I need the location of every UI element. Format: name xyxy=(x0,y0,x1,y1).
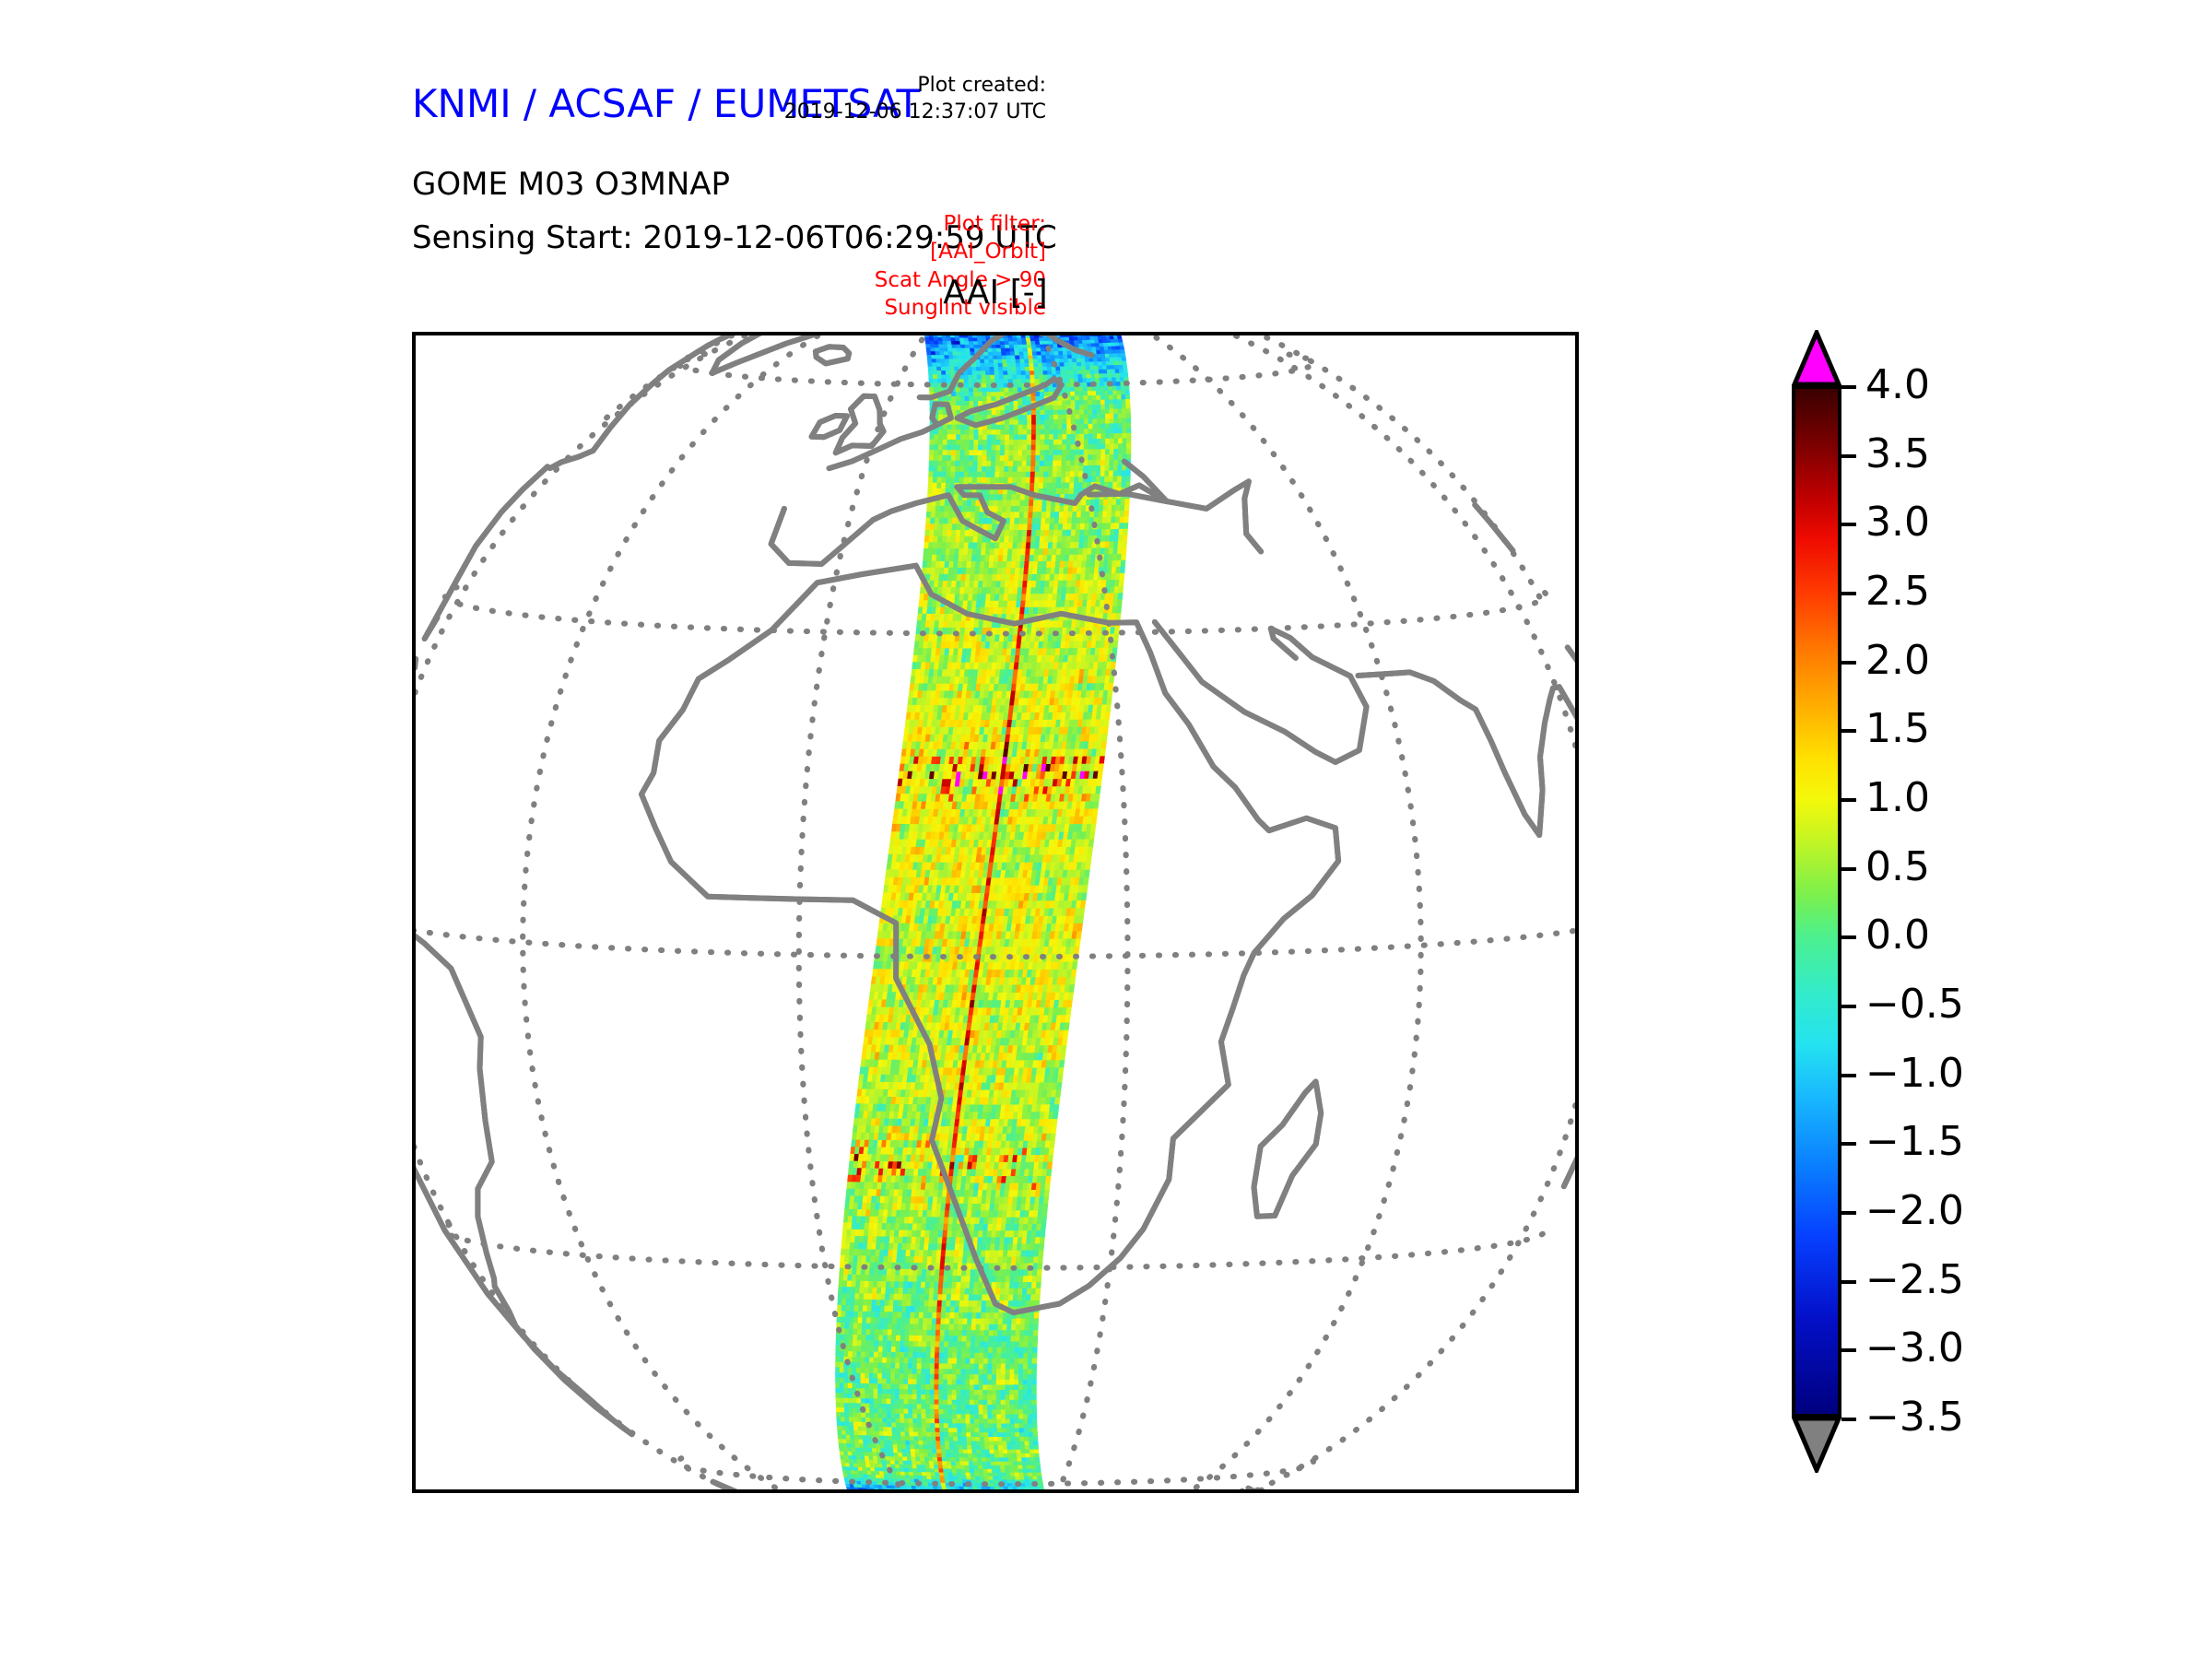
swath-cell xyxy=(1081,362,1086,366)
swath-cell xyxy=(1028,425,1032,429)
swath-cell xyxy=(949,555,954,561)
swath-cell xyxy=(999,472,1004,477)
swath-cell xyxy=(935,512,940,519)
swath-cell xyxy=(1107,698,1112,705)
swath-cell xyxy=(1037,512,1041,519)
swath-cell xyxy=(985,363,990,367)
swath-cell xyxy=(1047,488,1052,494)
swath-cell xyxy=(1069,494,1074,500)
swath-cell xyxy=(1113,548,1118,555)
swath-cell xyxy=(974,435,979,441)
swath-cell xyxy=(1025,363,1030,367)
swath-cell xyxy=(928,367,933,371)
swath-cell xyxy=(1058,524,1063,531)
swath-cell xyxy=(1045,524,1050,531)
swath-cell xyxy=(947,461,951,466)
swath-cell xyxy=(1013,466,1018,472)
swath-cell xyxy=(1038,359,1042,363)
swath-cell xyxy=(1013,477,1018,483)
swath-cell xyxy=(1053,406,1058,410)
swath-cell xyxy=(1105,471,1110,477)
swath-cell xyxy=(977,543,982,549)
swath-cell xyxy=(990,375,994,380)
swath-cell xyxy=(1081,512,1086,518)
swath-cell xyxy=(1005,388,1009,393)
swath-cell xyxy=(1030,477,1035,483)
swath-cell xyxy=(929,472,934,477)
swath-cell xyxy=(1102,524,1107,530)
swath-cell xyxy=(1093,414,1098,418)
swath-cell xyxy=(1035,466,1040,472)
swath-cell xyxy=(1043,488,1048,494)
swath-cell xyxy=(988,348,993,352)
swath-cell xyxy=(1097,400,1101,405)
swath-cell xyxy=(1083,483,1088,488)
swath-cell xyxy=(1075,472,1079,477)
swath-cell xyxy=(1114,424,1119,429)
swath-cell xyxy=(1119,529,1124,535)
swath-cell xyxy=(1031,429,1036,435)
swath-cell xyxy=(946,483,950,488)
swath-cell xyxy=(1120,511,1124,517)
swath-cell xyxy=(1097,434,1101,440)
swath-cell xyxy=(1021,371,1026,376)
swath-cell xyxy=(982,455,987,461)
swath-cell xyxy=(1086,512,1090,518)
swath-cell xyxy=(1112,373,1116,378)
swath-cell xyxy=(973,455,978,461)
swath-cell xyxy=(1118,443,1123,449)
swath-cell xyxy=(995,472,1000,477)
swath-cell xyxy=(1111,517,1115,524)
swath-cell xyxy=(962,500,967,506)
swath-cell xyxy=(1091,477,1096,482)
swath-cell xyxy=(1071,415,1076,419)
swath-cell xyxy=(934,450,938,455)
swath-cell xyxy=(941,367,946,371)
swath-cell xyxy=(979,416,983,420)
swath-cell xyxy=(974,440,979,445)
swath-cell xyxy=(1072,512,1077,518)
swath-cell xyxy=(1053,450,1058,455)
swath-cell xyxy=(1005,461,1009,466)
swath-cell xyxy=(969,455,973,461)
swath-cell xyxy=(1091,555,1096,561)
swath-cell xyxy=(999,375,1004,380)
swath-cell xyxy=(958,359,962,363)
swath-cell xyxy=(1101,450,1106,455)
plot-filter-line-1: [AAI_Orbit] xyxy=(875,238,1046,265)
swath-cell xyxy=(1097,439,1101,444)
swath-cell xyxy=(935,524,939,531)
swath-cell xyxy=(1067,425,1072,429)
swath-cell xyxy=(1110,454,1114,460)
swath-cell xyxy=(1016,359,1020,363)
swath-cell xyxy=(992,345,996,348)
swath-cell xyxy=(1000,536,1005,543)
swath-cell xyxy=(1049,450,1053,455)
swath-cell xyxy=(986,380,991,384)
swath-cell xyxy=(1035,472,1040,477)
swath-cell xyxy=(930,524,935,531)
swath-cell xyxy=(1043,371,1048,374)
swath-cell xyxy=(1096,786,1101,794)
swath-cell xyxy=(1049,388,1053,393)
swath-cell xyxy=(1032,352,1037,356)
swath-cell xyxy=(972,543,977,549)
swath-cell xyxy=(1118,460,1123,465)
swath-cell xyxy=(1124,523,1128,529)
swath-cell xyxy=(1007,371,1012,375)
swath-cell xyxy=(1020,363,1025,367)
swath-cell xyxy=(1060,363,1065,367)
swath-cell xyxy=(971,500,976,506)
swath-cell xyxy=(1122,547,1126,554)
swath-cell xyxy=(1003,500,1007,506)
swath-cell xyxy=(934,455,938,461)
swath-cell xyxy=(958,500,962,506)
swath-cell xyxy=(1053,440,1058,445)
swath-cell xyxy=(982,393,987,397)
swath-cell xyxy=(1117,477,1122,482)
swath-cell xyxy=(1083,392,1088,396)
swath-cell xyxy=(931,348,935,352)
swath-cell xyxy=(1062,466,1066,472)
swath-cell xyxy=(1112,512,1116,518)
swath-cell xyxy=(1083,379,1088,383)
swath-cell xyxy=(1105,405,1110,409)
swath-cell xyxy=(1064,355,1068,359)
swath-cell xyxy=(1109,391,1113,395)
swath-cell xyxy=(1110,444,1114,450)
swath-cell xyxy=(1080,415,1085,419)
swath-cell xyxy=(1084,450,1088,455)
swath-cell xyxy=(950,371,955,375)
swath-cell xyxy=(1001,429,1006,435)
swath-cell xyxy=(1020,359,1025,363)
swath-cell xyxy=(960,455,965,461)
swath-cell xyxy=(1027,451,1031,456)
swath-cell xyxy=(957,348,961,352)
swath-cell xyxy=(957,429,961,435)
swath-cell xyxy=(934,341,938,345)
swath-cell xyxy=(1088,840,1094,847)
swath-cell xyxy=(970,416,974,420)
swath-cell xyxy=(1088,405,1093,409)
swath-cell xyxy=(1091,817,1097,824)
swath-cell xyxy=(1071,450,1076,455)
swath-cell xyxy=(1100,400,1105,405)
swath-cell xyxy=(1112,505,1116,512)
swath-cell xyxy=(938,337,943,341)
swath-cell xyxy=(1121,391,1125,395)
swath-cell xyxy=(1044,455,1049,461)
swath-cell xyxy=(1106,434,1111,440)
swath-cell xyxy=(935,518,939,524)
swath-cell xyxy=(1037,518,1041,524)
swath-cell xyxy=(1086,371,1090,375)
swath-cell xyxy=(1088,460,1092,465)
swath-cell xyxy=(1106,429,1111,434)
swath-cell xyxy=(939,568,944,574)
swath-cell xyxy=(1033,363,1038,367)
swath-cell xyxy=(977,477,982,483)
swath-cell xyxy=(986,375,991,380)
swath-cell xyxy=(1031,461,1036,466)
swath-cell xyxy=(1097,409,1101,414)
swath-cell xyxy=(1036,455,1041,461)
swath-cell xyxy=(938,440,943,445)
swath-cell xyxy=(978,393,982,397)
swath-cell xyxy=(1095,374,1100,379)
swath-cell xyxy=(1005,455,1009,461)
swath-cell xyxy=(1057,466,1062,472)
swath-cell xyxy=(1081,893,1087,900)
swath-cell xyxy=(1123,361,1127,366)
swath-cell xyxy=(935,506,940,512)
swath-cell xyxy=(1001,435,1006,441)
swath-cell xyxy=(1074,483,1078,488)
swath-cell xyxy=(1103,500,1108,506)
swath-cell xyxy=(933,367,937,371)
swath-cell xyxy=(1063,440,1067,445)
swath-cell xyxy=(1027,396,1031,401)
swath-cell xyxy=(1067,524,1072,530)
swath-cell xyxy=(1083,387,1088,392)
swath-cell xyxy=(937,536,942,543)
swath-cell xyxy=(947,445,952,451)
swath-cell xyxy=(1011,356,1016,359)
swath-cell xyxy=(1070,542,1075,548)
swath-cell xyxy=(932,359,936,363)
swath-cell xyxy=(1112,482,1117,488)
swath-cell xyxy=(972,335,977,338)
swath-cell xyxy=(1018,420,1023,425)
swath-cell xyxy=(1063,524,1067,530)
swath-cell xyxy=(1000,466,1005,472)
swath-cell xyxy=(943,445,947,451)
swath-cell xyxy=(987,524,992,531)
swath-cell xyxy=(1010,352,1015,356)
swath-cell xyxy=(1100,382,1104,387)
swath-cell xyxy=(998,359,1003,363)
swath-cell xyxy=(1021,335,1026,338)
swath-cell xyxy=(1113,409,1118,414)
swath-cell xyxy=(1119,343,1124,347)
swath-cell xyxy=(1105,542,1110,548)
swath-cell xyxy=(1115,517,1120,524)
swath-cell xyxy=(1121,353,1125,357)
swath-cell xyxy=(992,429,996,435)
swath-cell xyxy=(1038,506,1042,512)
swath-cell xyxy=(1053,415,1058,419)
swath-cell xyxy=(1085,870,1090,877)
swath-cell xyxy=(1001,348,1006,352)
swath-cell xyxy=(1061,543,1065,549)
swath-cell xyxy=(969,388,973,393)
swath-cell xyxy=(1029,359,1033,363)
swath-cell xyxy=(972,477,977,483)
swath-cell xyxy=(1063,429,1067,435)
swath-cell xyxy=(1075,392,1079,396)
swath-cell xyxy=(1083,465,1088,471)
swath-cell xyxy=(949,561,954,568)
swath-cell xyxy=(982,388,987,393)
swath-cell xyxy=(1028,518,1032,524)
swath-cell xyxy=(1056,488,1061,494)
swath-cell xyxy=(1046,356,1051,359)
swath-cell xyxy=(970,429,974,434)
swath-cell xyxy=(948,512,953,519)
swath-cell xyxy=(1040,392,1044,396)
swath-cell xyxy=(978,388,982,393)
swath-cell xyxy=(934,461,938,466)
swath-cell xyxy=(1118,465,1123,471)
swath-cell xyxy=(1041,356,1046,359)
map-plot-area xyxy=(412,332,1579,1493)
swath-cell xyxy=(1094,362,1099,366)
swath-cell xyxy=(1071,970,1077,977)
swath-cell xyxy=(1101,429,1106,434)
swath-cell xyxy=(1017,549,1021,556)
swath-cell xyxy=(1089,359,1094,362)
swath-cell xyxy=(956,466,960,472)
swath-cell xyxy=(1124,369,1128,373)
swath-cell xyxy=(1084,429,1088,435)
swath-cell xyxy=(1110,418,1114,423)
swath-cell xyxy=(975,506,980,512)
swath-cell xyxy=(1072,359,1077,362)
swath-cell xyxy=(1078,379,1083,383)
swath-cell xyxy=(1049,445,1053,451)
swath-cell xyxy=(1122,404,1126,408)
swath-cell xyxy=(1126,443,1131,449)
swath-cell xyxy=(960,461,965,466)
swath-cell xyxy=(934,530,938,536)
swath-cell xyxy=(1118,449,1123,454)
swath-cell xyxy=(973,388,978,393)
swath-cell xyxy=(1110,434,1114,440)
swath-cell xyxy=(1062,536,1066,543)
swath-cell xyxy=(938,581,943,587)
swath-cell xyxy=(1016,506,1020,512)
swath-cell xyxy=(1016,500,1020,506)
swath-cell xyxy=(1008,466,1013,472)
swath-cell xyxy=(930,341,935,345)
swath-cell xyxy=(1094,505,1099,512)
swath-cell xyxy=(1018,445,1023,451)
swath-cell xyxy=(1071,455,1076,461)
map-line xyxy=(1018,1486,1253,1489)
swath-cell xyxy=(1075,466,1079,472)
swath-cell xyxy=(1092,809,1098,817)
swath-cell xyxy=(1017,371,1021,376)
swath-cell xyxy=(1031,420,1036,425)
swath-cell xyxy=(1035,543,1040,549)
swath-cell xyxy=(1086,863,1091,870)
swath-cell xyxy=(1113,465,1118,471)
swath-cell xyxy=(970,530,974,536)
swath-cell xyxy=(1032,518,1037,524)
swath-cell xyxy=(1115,373,1120,378)
swath-cell xyxy=(1109,395,1113,400)
swath-cell xyxy=(987,429,992,435)
swath-cell xyxy=(966,512,971,519)
swath-cell xyxy=(1065,488,1069,494)
swath-cell xyxy=(1058,415,1063,419)
swath-cell xyxy=(1122,358,1126,361)
swath-cell xyxy=(944,512,948,519)
swath-cell xyxy=(934,466,938,472)
swath-cell xyxy=(1006,429,1010,435)
swath-cell xyxy=(964,461,969,466)
swath-cell xyxy=(1080,530,1085,536)
swath-cell xyxy=(1097,450,1101,455)
swath-cell xyxy=(1106,439,1111,444)
swath-cell xyxy=(1108,373,1112,378)
swath-cell xyxy=(992,445,996,451)
swath-cell xyxy=(972,375,977,380)
swath-cell xyxy=(1030,335,1034,338)
swath-cell xyxy=(1005,393,1009,397)
swath-cell xyxy=(1047,371,1052,375)
swath-cell xyxy=(1066,440,1071,445)
swath-cell xyxy=(939,512,944,519)
swath-cell xyxy=(945,356,949,359)
swath-cell xyxy=(995,451,1000,456)
swath-cell xyxy=(1037,352,1041,356)
swath-cell xyxy=(1034,335,1039,338)
swath-cell xyxy=(1006,512,1011,519)
swath-cell xyxy=(979,518,983,524)
swath-cell xyxy=(1094,512,1099,518)
swath-cell xyxy=(1006,524,1010,531)
swath-cell xyxy=(1022,455,1027,461)
swath-cell xyxy=(1104,391,1109,395)
swath-cell xyxy=(943,455,947,461)
swath-cell xyxy=(1009,429,1014,435)
swath-cell xyxy=(1010,512,1015,519)
swath-cell xyxy=(938,461,943,466)
swath-cell xyxy=(991,466,995,472)
swath-cell xyxy=(1125,386,1130,391)
swath-cell xyxy=(1053,472,1057,477)
swath-cell xyxy=(1118,594,1123,600)
swath-cell xyxy=(1053,435,1058,441)
swath-cell xyxy=(1043,483,1048,488)
swath-cell xyxy=(1097,405,1101,409)
swath-cell xyxy=(974,518,979,524)
swath-cell xyxy=(956,401,960,406)
swath-cell xyxy=(947,451,952,456)
swath-cell xyxy=(1028,524,1032,531)
swath-cell xyxy=(1116,500,1121,506)
swath-cell xyxy=(1078,374,1083,379)
swath-cell xyxy=(1051,512,1055,519)
swath-cell xyxy=(951,455,956,461)
swath-cell xyxy=(941,371,946,374)
swath-cell xyxy=(1125,394,1130,399)
swath-cell xyxy=(1119,580,1124,586)
swath-cell xyxy=(1013,472,1018,477)
swath-cell xyxy=(1029,356,1033,359)
swath-cell xyxy=(960,530,965,536)
swath-cell xyxy=(964,380,969,384)
swath-cell xyxy=(1009,435,1014,441)
swath-cell xyxy=(981,556,985,562)
swath-cell xyxy=(1099,366,1103,371)
swath-cell xyxy=(1077,518,1081,524)
